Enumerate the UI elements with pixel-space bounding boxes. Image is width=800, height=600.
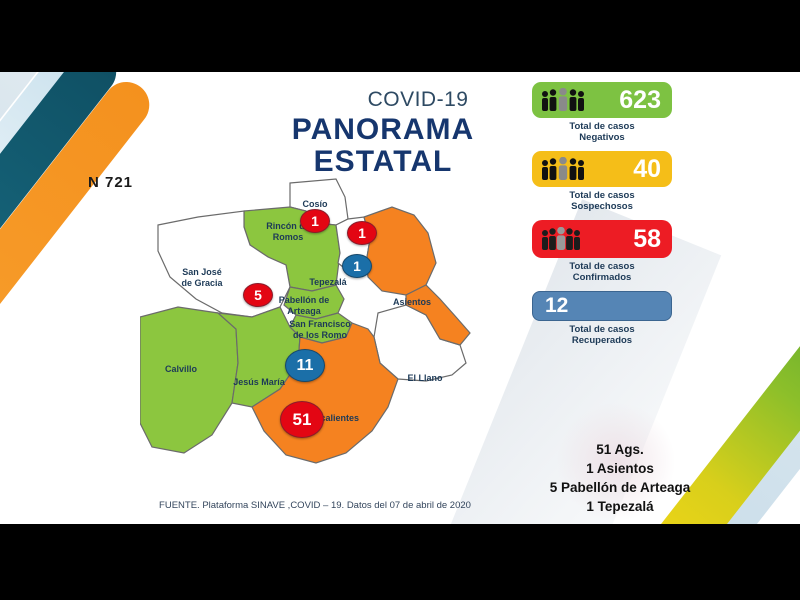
people-group-icon xyxy=(540,227,582,251)
stat-card-label-confirmados: Total de casos Confirmados xyxy=(532,261,672,283)
map-label: San Joséde Gracia xyxy=(162,267,242,288)
map-marker-pabellon-confirmed[interactable]: 5 xyxy=(243,283,273,307)
stat-label-line1: Total de casos xyxy=(532,121,672,132)
map-label: Tepezalá xyxy=(296,277,360,288)
list-item: 5 Pabellón de Arteaga xyxy=(520,478,720,497)
stat-card-recuperados[interactable]: 12 xyxy=(532,291,672,321)
municipality-breakdown-list: 51 Ags. 1 Asientos 5 Pabellón de Arteaga… xyxy=(520,440,720,516)
stat-card-sospechosos[interactable]: 40 xyxy=(532,151,672,187)
map-label: San Franciscode los Romo xyxy=(274,319,366,340)
map-marker-aguascalientes-confirmed[interactable]: 51 xyxy=(280,401,324,438)
stat-label-line2: Confirmados xyxy=(532,272,672,283)
region-asientos xyxy=(364,207,436,295)
stat-label-line1: Total de casos xyxy=(532,324,672,335)
stat-value: 58 xyxy=(633,225,661,254)
stat-value: 623 xyxy=(619,86,661,115)
stat-card-confirmados[interactable]: 58 xyxy=(532,220,672,258)
stat-label-line1: Total de casos xyxy=(532,261,672,272)
letterbox-top xyxy=(0,0,800,72)
slide-number-label: N 721 xyxy=(88,174,133,191)
list-item: 51 Ags. xyxy=(520,440,720,459)
stat-cards-panel: 623 Total de casos Negativos xyxy=(532,82,672,354)
page-title-line1: PANORAMA xyxy=(248,114,518,146)
list-item: 1 Tepezalá xyxy=(520,497,720,516)
stat-label-line2: Negativos xyxy=(532,132,672,143)
stat-value: 40 xyxy=(633,155,661,184)
map-marker-aguascalientes-recovered[interactable]: 11 xyxy=(285,349,325,382)
stat-card-label-negativos: Total de casos Negativos xyxy=(532,121,672,143)
stat-value: 12 xyxy=(545,294,568,318)
stat-card-negativos[interactable]: 623 xyxy=(532,82,672,118)
stat-label-line1: Total de casos xyxy=(532,190,672,201)
letterbox-bottom xyxy=(0,524,800,600)
map-marker-asientos-confirmed[interactable]: 1 xyxy=(347,221,377,245)
slide-canvas: COVID-19 PANORAMA ESTATAL N 721 xyxy=(0,72,800,524)
map-marker-asientos-recovered[interactable]: 1 xyxy=(342,254,372,278)
title-covid: COVID-19 xyxy=(318,88,518,112)
map-label: Pabellón deArteaga xyxy=(264,295,344,316)
people-group-icon xyxy=(540,88,586,112)
map-label: Calvillo xyxy=(150,364,212,375)
stat-label-line2: Sospechosos xyxy=(532,201,672,212)
map-marker-tepezala-confirmed[interactable]: 1 xyxy=(300,209,330,233)
screenshot-stage: COVID-19 PANORAMA ESTATAL N 721 xyxy=(0,0,800,600)
map-label: El Llano xyxy=(394,373,456,384)
map-label: Jesús María xyxy=(222,377,296,388)
people-group-icon xyxy=(540,157,586,181)
list-item: 1 Asientos xyxy=(520,459,720,478)
source-note: FUENTE. Plataforma SINAVE ,COVID – 19. D… xyxy=(150,500,480,511)
map-label: Cosío xyxy=(285,199,345,210)
aguascalientes-choropleth-map: Cosío Rincón deRomos San Joséde Gracia T… xyxy=(140,167,540,497)
stat-card-label-sospechosos: Total de casos Sospechosos xyxy=(532,190,672,212)
map-label: Asientos xyxy=(378,297,446,308)
stat-card-label-recuperados: Total de casos Recuperados xyxy=(532,324,672,346)
stat-label-line2: Recuperados xyxy=(532,335,672,346)
